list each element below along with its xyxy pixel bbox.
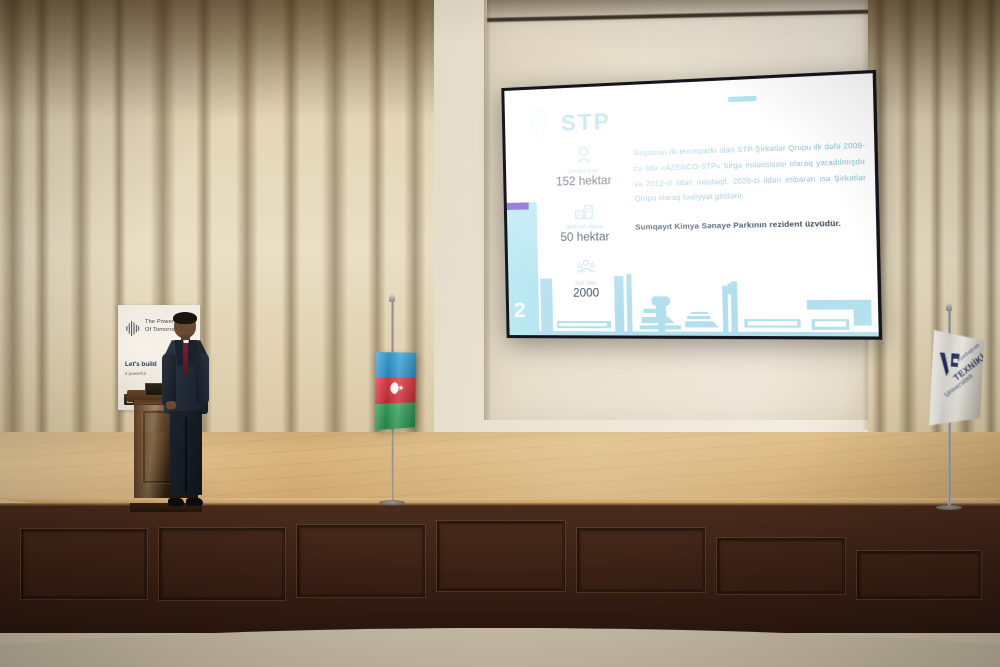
flagpole-base-left — [379, 500, 405, 505]
presenter-hand — [166, 401, 176, 409]
slide-page-number: 2 — [514, 299, 527, 323]
fascia-panel — [20, 528, 148, 600]
fascia-panel — [856, 550, 982, 600]
presenter-hair — [173, 312, 197, 324]
flagpole-finial-right — [946, 303, 952, 311]
screen-frame: 2 STP — [501, 70, 882, 340]
banner-tagline: Let's build — [125, 361, 157, 368]
flag-stripe-green — [375, 402, 416, 430]
stat-item: Ümumi ərazi 152 hektar — [535, 141, 632, 189]
flag-stripe-blue — [376, 352, 417, 378]
fascia-panel — [436, 520, 566, 592]
stat-item: İstehsal sahəsi 50 hektar — [537, 198, 634, 245]
slide-highlight-text: Sumqayıt Kimya Sənaye Parkının rezident … — [635, 218, 867, 232]
alcove-left-edge — [484, 0, 491, 420]
waveform-icon — [125, 320, 142, 337]
screen-surface: 2 STP — [504, 73, 878, 336]
star-icon: ★ — [398, 384, 404, 391]
presenter-shoe-left — [168, 498, 184, 506]
presentation-slide: 2 STP — [504, 73, 878, 336]
title-dash-icon — [728, 96, 756, 103]
fascia-panel — [576, 527, 706, 593]
conference-hall-photo: 2 STP — [0, 0, 1000, 667]
slide-accent-mark — [507, 203, 529, 211]
flagpole-base-right — [936, 505, 962, 510]
banner-subtagline: it powerful — [125, 371, 146, 376]
slide-title: STP — [561, 108, 611, 136]
location-pin-icon — [535, 141, 631, 169]
flagpole-finial-left — [389, 294, 395, 302]
presenter-tie — [183, 343, 188, 375]
stat-value: 50 hektar — [537, 231, 633, 245]
fascia-panel — [296, 524, 426, 598]
factory-icon — [537, 198, 634, 225]
stage-curtain-left — [0, 0, 434, 500]
presenter-arm-left — [162, 353, 176, 407]
slide-paragraph: Regionun ilk texnoparkı olan STP Şirkətl… — [633, 138, 866, 207]
stat-value: 152 hektar — [536, 174, 632, 189]
fascia-panel — [716, 537, 846, 595]
slide-body-column: Regionun ilk texnoparkı olan STP Şirkətl… — [633, 138, 867, 232]
aztu-flag: Azərbaycan TEXNİKİ Universiteti — [929, 330, 984, 432]
presenter — [162, 313, 214, 503]
projection-screen[interactable]: 2 STP — [504, 88, 856, 338]
azerbaijan-flag: ★ — [375, 352, 416, 430]
presenter-arm-right — [196, 353, 209, 405]
presenter-leg-gap — [185, 417, 187, 493]
industrial-skyline-illustration — [538, 270, 879, 337]
watermark-pin-icon — [529, 109, 550, 140]
fascia-panel — [158, 527, 286, 601]
presenter-shoe-right — [186, 498, 203, 506]
